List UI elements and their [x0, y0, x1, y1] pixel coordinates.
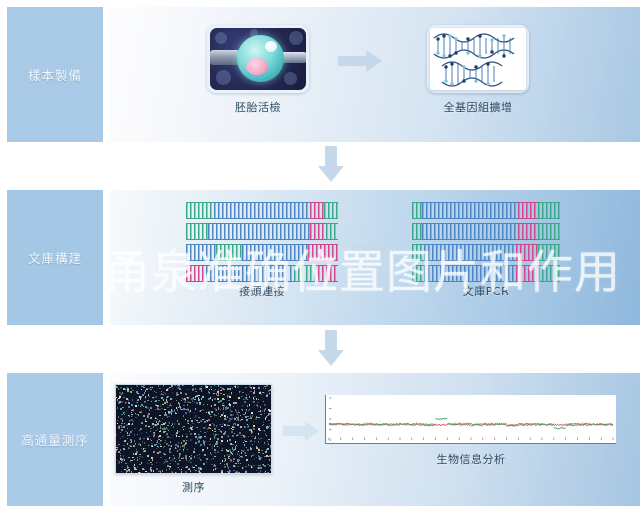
figure-adapter-ligation: 接頭連接 [186, 202, 338, 299]
figure-caption: 接頭連接 [186, 283, 338, 299]
embryo-biopsy-illustration [210, 28, 306, 90]
workflow-row-high-throughput-sequencing: 高通量測序 測序 生物信息分析 [0, 373, 640, 506]
stage-label: 高通量測序 [21, 430, 89, 449]
figure-caption: 胚胎活檢 [205, 99, 311, 115]
figure-caption: 文庫PCR [412, 283, 560, 299]
workflow-diagram: 樣本製備 胚胎活檢 [0, 0, 640, 513]
cnv-plot-chart [325, 395, 616, 444]
figure-caption: 測序 [115, 479, 272, 495]
row-background [110, 7, 640, 142]
stage-chip-high-throughput-sequencing: 高通量測序 [7, 373, 103, 506]
dna-card [427, 25, 529, 93]
stage-chip-sample-preparation: 樣本製備 [7, 7, 103, 142]
figure-sequencing: 測序 [115, 384, 272, 495]
holding-pipette-icon [210, 50, 240, 65]
stage-label: 樣本製備 [28, 65, 82, 84]
arrow-down-icon [318, 146, 344, 182]
dna-library-pcr-illustration [412, 202, 560, 278]
dna-double-helix-illustration [430, 28, 526, 90]
stage-label: 文庫構建 [28, 248, 82, 267]
inner-cell-mass-shape [246, 58, 268, 75]
workflow-row-sample-preparation: 樣本製備 胚胎活檢 [0, 7, 640, 142]
figure-library-pcr: 文庫PCR [412, 202, 560, 299]
figure-whole-genome-amplification: 全基因組擴增 [425, 25, 531, 115]
arrow-right-icon [283, 421, 319, 441]
workflow-row-library-construction: 文庫構建 [0, 190, 640, 325]
vacuole-shape [265, 41, 277, 52]
figure-caption: 全基因組擴增 [425, 99, 531, 115]
arrow-right-icon [352, 238, 396, 260]
embryo-card [207, 25, 309, 93]
stage-chip-library-construction: 文庫構建 [7, 190, 103, 325]
figure-bioinformatics-analysis: 生物信息分析 [325, 395, 617, 467]
arrow-down-icon [318, 330, 344, 366]
figure-caption: 生物信息分析 [325, 451, 617, 467]
dna-library-strands-illustration [186, 202, 338, 278]
sequencing-flowcell-image [115, 384, 272, 474]
figure-embryo-biopsy: 胚胎活檢 [205, 25, 311, 115]
arrow-right-icon [338, 50, 382, 72]
